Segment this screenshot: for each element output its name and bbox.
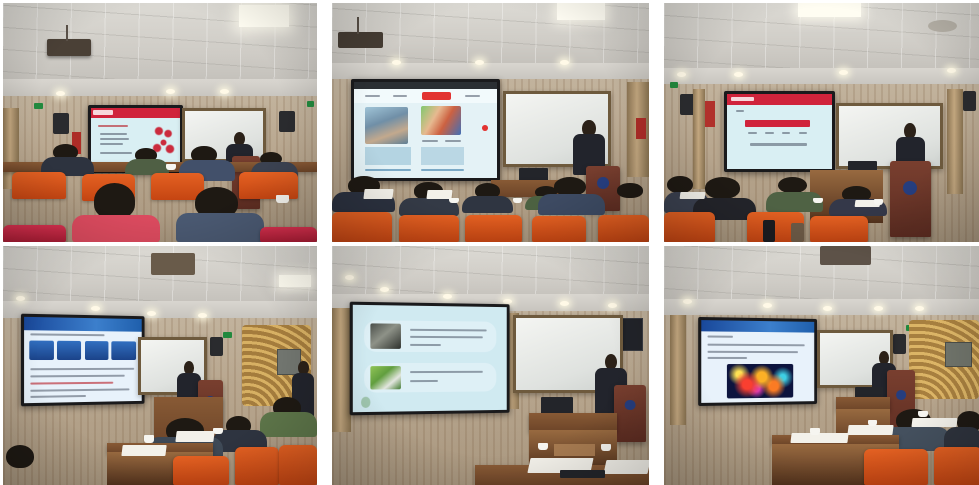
slide-text-line [98,125,128,127]
wall-speaker [963,91,976,110]
nav-item [465,95,479,97]
attendee-torso [462,196,513,213]
fire-cabinet [636,118,646,140]
content-block [421,147,464,164]
chair [3,225,66,242]
fire-cabinet [705,101,715,127]
cup [874,199,884,205]
attendee-torso [260,412,317,437]
chair [864,449,928,485]
slide-text-line [100,133,127,135]
ceiling-light-panel [798,3,862,17]
slide-3 [727,94,832,168]
document [679,192,705,199]
downlight [220,89,229,94]
slide-text-line [30,334,104,337]
wall-pillar [332,308,351,432]
exit-sign [307,101,314,107]
content-thumbnail [365,107,408,143]
downlight [380,287,389,292]
projection-screen [351,79,500,181]
attendee-head [6,445,34,468]
nav-tab-active [422,92,451,101]
attendee-torso-front [176,213,264,242]
slide-subtext [765,132,773,134]
ceiling-projector [338,32,382,49]
attendee-head [778,177,807,193]
photo-5[interactable] [332,246,649,485]
downlight [947,68,956,73]
chair [173,456,230,485]
chair [532,216,586,242]
cup [166,164,175,170]
slide-photo-1 [370,324,400,350]
slide-text-line [736,110,744,112]
cup [810,428,820,435]
cup [276,195,289,203]
chair [239,172,299,199]
thermos [763,220,776,242]
slide-title-highlight [745,120,810,127]
slide-header-bar [727,94,832,104]
slide-text-line [750,143,807,146]
wall-display [945,342,972,368]
attendee-head-front [94,183,135,219]
notification-dot [482,125,488,131]
diagram-box [29,341,54,360]
wall-speaker [53,113,69,135]
projector-mount [357,17,359,34]
ceiling-projector [151,253,195,275]
photo-grid [0,0,979,485]
content-thumbnail [421,106,461,135]
chair [399,215,459,242]
card-text [422,140,438,142]
slide-text-line [707,335,733,337]
slide-2 [354,82,497,178]
nav-item [365,95,379,97]
ceiling-light-panel [279,275,310,287]
diagram-box [84,341,107,359]
audience-area [3,389,317,485]
chair [465,215,522,242]
slide-text-line [30,368,134,370]
downlight [91,306,100,311]
chair [279,445,317,485]
chair [235,447,279,485]
slide-text-line [707,350,798,352]
audience-area [3,137,317,242]
slide-subtext [748,132,756,134]
ceiling-light-panel [239,5,289,27]
audience-area [664,399,979,485]
cup [213,428,222,435]
content-block [365,147,411,164]
cup [538,443,548,450]
attendee-torso [538,194,605,216]
downlight [16,296,25,301]
diagram-box [111,342,136,360]
chair [810,216,867,242]
chair [934,447,979,485]
attendee-head [705,177,740,199]
wall-speaker [893,334,906,353]
diagram-box [57,341,81,360]
attendee-head [667,176,692,193]
document [791,433,850,443]
ceiling-projector [820,246,871,265]
cup [513,198,523,204]
wall-speaker [210,337,223,356]
exit-sign [223,332,232,338]
nav-item [393,95,407,97]
slide-text-line [30,382,113,385]
document [363,189,393,199]
photo-2[interactable] [332,3,649,242]
cup [813,198,823,204]
document [175,431,214,442]
audience-area [332,170,649,242]
attendee-head [617,183,642,197]
webpage-topbar [354,82,497,89]
wall-speaker [279,111,295,133]
attendee-torso-front [72,215,160,242]
photo-6[interactable] [664,246,979,485]
downlight [345,275,354,280]
thermos [791,223,804,242]
slide-header-bar [91,108,180,119]
document [122,445,167,456]
cardboard-box [554,444,595,456]
document [912,418,958,427]
document [603,460,649,474]
slide-body [727,105,832,169]
downlight [823,306,832,311]
ceiling-light-panel [557,3,605,20]
ceiling-projector [47,39,91,56]
downlight [683,299,692,304]
projection-screen [698,317,817,406]
exit-sign [670,82,678,88]
chair [664,212,715,242]
photo-3[interactable] [664,3,979,242]
exit-sign [34,103,43,109]
laptop [560,470,604,477]
slide-subtext [799,132,807,134]
ceiling-fan [928,20,957,32]
chair [598,215,649,242]
downlight [443,294,452,299]
chair [12,172,65,199]
downlight [915,306,924,311]
downlight [874,306,883,311]
slide-logo [361,397,371,408]
slide-photo-2 [370,366,400,390]
slide-text-line [707,344,805,347]
foreground-desk-area [332,432,649,485]
slide-body [701,331,814,403]
slide-text-line [707,357,747,359]
downlight [198,313,207,318]
card-text [445,140,461,142]
photo-4[interactable] [3,246,317,485]
slide-5 [353,305,507,413]
projection-screen [724,91,835,171]
cup [918,411,928,417]
slide-subtext [782,132,790,134]
slide-6 [701,320,814,403]
whiteboard [836,103,944,169]
cup [449,198,459,204]
projection-screen [350,302,510,416]
document [848,425,894,435]
downlight [147,311,156,316]
downlight [839,70,848,75]
cup [601,444,611,451]
heatmap-figure [727,364,793,398]
slide-text-line [30,375,125,378]
projector-mount [66,25,68,42]
chair [332,212,392,242]
downlight [503,299,512,304]
photo-1[interactable] [3,3,317,242]
audience-area [664,170,979,242]
cup [868,420,878,427]
cup [144,435,153,443]
slide-header-bar [701,320,814,332]
chair [260,227,317,242]
